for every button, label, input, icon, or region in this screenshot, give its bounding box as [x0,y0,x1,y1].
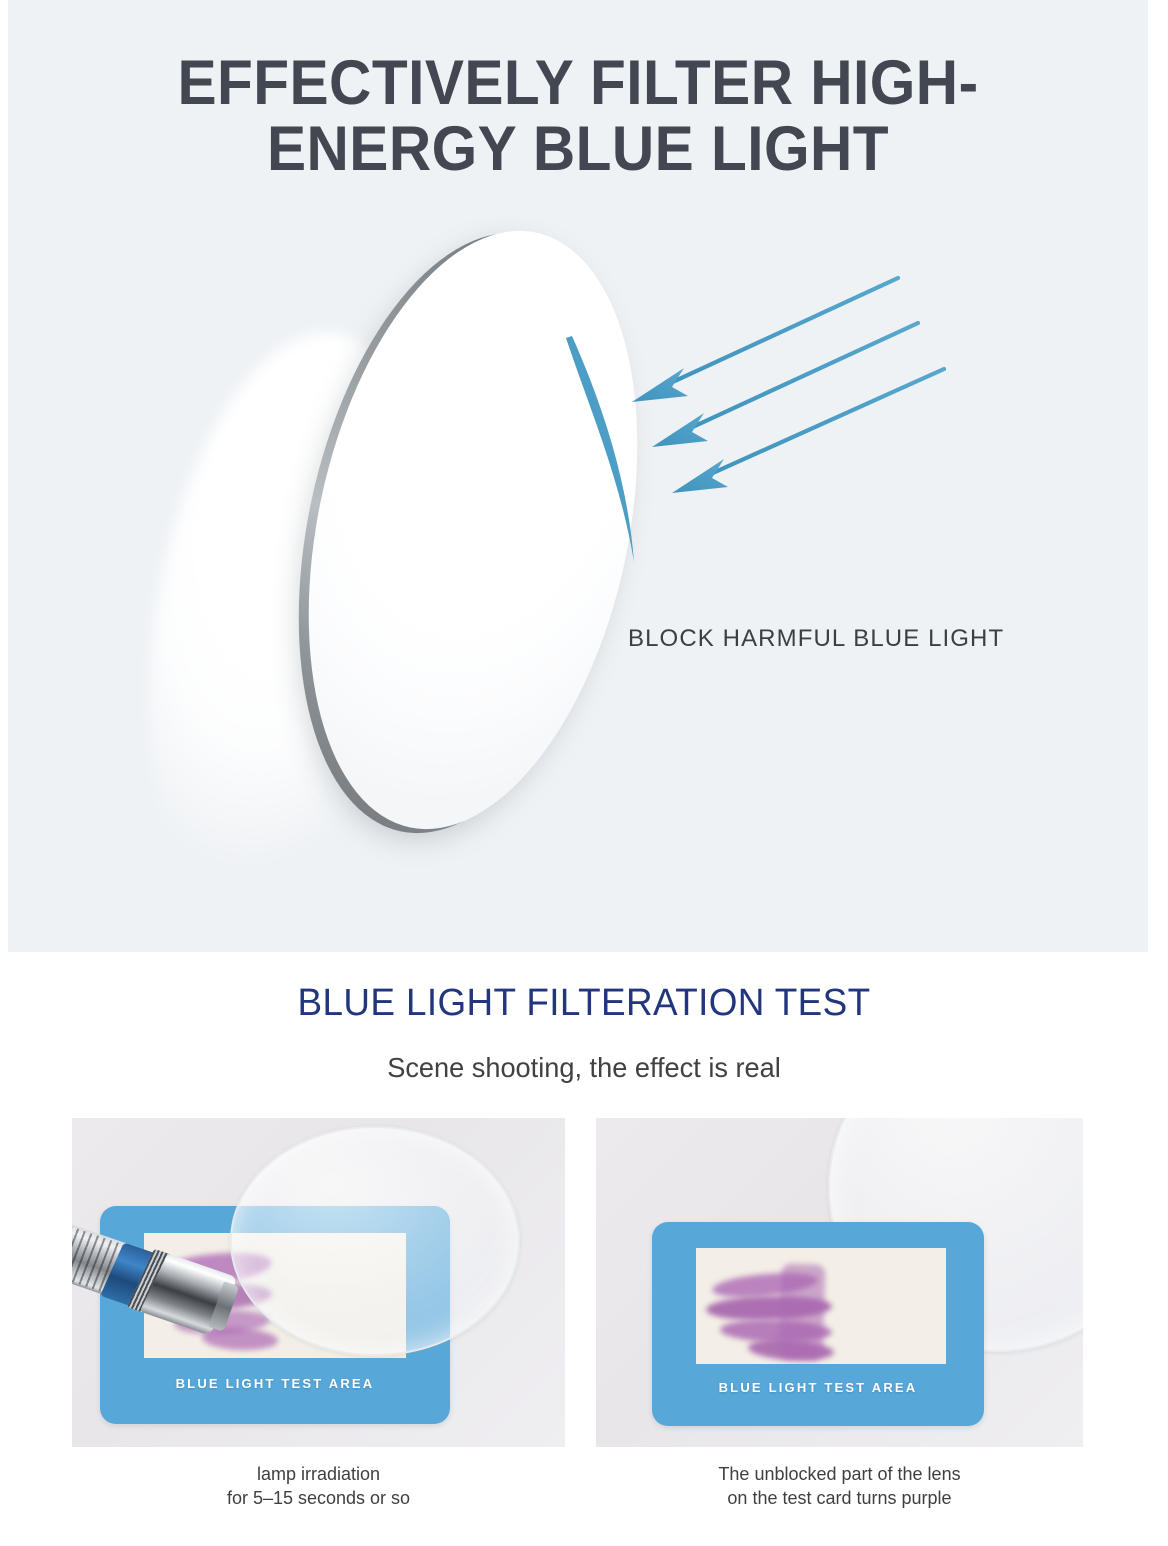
hero-panel: EFFECTIVELY FILTER HIGH- ENERGY BLUE LIG… [8,0,1148,952]
test-photo-right: BLUE LIGHT TEST AREA [596,1118,1083,1447]
section-title: BLUE LIGHT FILTERATION TEST [18,982,1151,1025]
block-harmful-blue-light-label: BLOCK HARMFUL BLUE LIGHT [628,625,1088,653]
page-title: EFFECTIVELY FILTER HIGH- ENERGY BLUE LIG… [48,50,1108,182]
section-subtitle: Scene shooting, the effect is real [18,1052,1151,1084]
purple-stain [778,1263,825,1360]
photo-caption-left: lamp irradiation for 5–15 seconds or so [72,1462,565,1510]
blue-light-rays-icon [548,270,1008,640]
photo-caption-right: The unblocked part of the lens on the te… [596,1462,1083,1510]
blue-light-test-section: BLUE LIGHT FILTERATION TEST Scene shooti… [0,952,1168,1546]
card-label: BLUE LIGHT TEST AREA [652,1380,984,1395]
card-label: BLUE LIGHT TEST AREA [100,1376,450,1391]
clear-lens-disc [230,1126,520,1356]
deflection-arc-icon [566,336,634,562]
test-photo-left: BLUE LIGHT TEST AREA [72,1118,565,1447]
